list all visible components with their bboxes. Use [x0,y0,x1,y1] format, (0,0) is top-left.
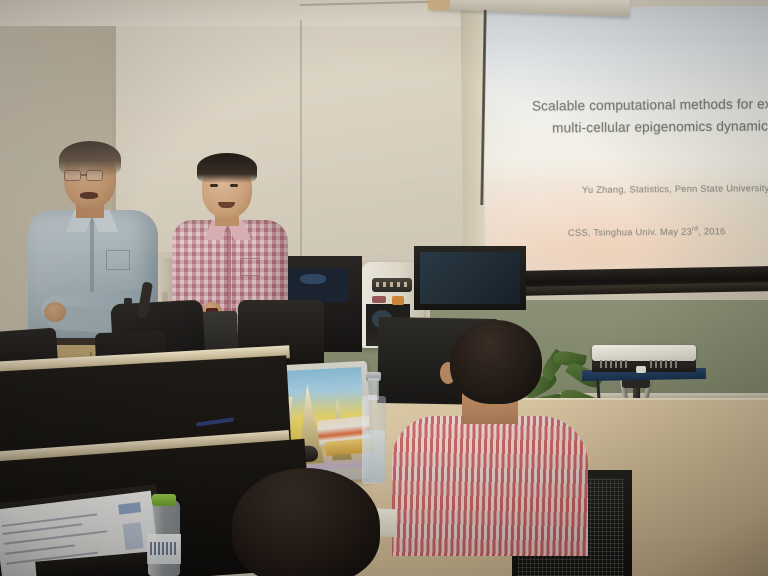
water-bottle-green-cap[interactable] [152,494,176,506]
presenter-left-shirt-pocket [106,250,130,270]
slide-venue: CSS, Tsinghua Univ. May 23rd, 2016 [568,225,726,238]
presenter-left-glasses-bridge [81,174,87,176]
slide-title-line-1: Scalable computational methods for explo… [532,96,768,114]
attendee-head [450,320,542,404]
presenter-left-glasses-lens-right [86,170,103,181]
seated-attendee-right [392,320,588,576]
slide-venue-prefix: CSS, Tsinghua Univ. May 23 [568,227,692,238]
presenter-right-eye-right [230,184,238,187]
presenter-left-hand [44,302,66,322]
water-bottle-label-text [150,542,178,555]
slide-content: Scalable computational methods for explo… [470,4,768,284]
projector-vent [650,360,680,368]
seated-attendee-center [218,468,398,576]
photo-scene: Scalable computational methods for explo… [0,0,768,576]
laptop-text-line [5,544,75,555]
slide-title-line-2: multi-cellular epigenomics dynamics [552,110,768,139]
laptop-ui-block [118,502,141,515]
projection-screen-housing-cap [428,0,450,10]
projector-vent [600,360,630,368]
presenter-left-mouth [80,192,98,199]
laptop-text-line [2,513,98,527]
presenter-right-hair [197,153,257,183]
laptop-ui-block [123,522,144,550]
presenter-left-glasses-lens-left [64,170,81,181]
projector-lens [636,366,646,373]
slide-title: Scalable computational methods for explo… [532,88,768,139]
attendee-center-head [232,468,380,576]
presenter-right-shirt-pocket [240,258,260,276]
presenter-right-eye-left [210,184,218,187]
far-monitor-screen [420,252,520,304]
projector-body [592,345,696,361]
water-cooler-buttons[interactable] [376,282,408,287]
water-cooler-badge [392,296,404,305]
slide-author: Yu Zhang, Statistics, Penn State Univers… [582,183,768,195]
equipment-rack-screen-glow [300,274,326,284]
slide-venue-suffix: , 2016 [698,226,725,236]
attendee-striped-shirt [392,416,588,556]
water-cooler-logo [372,296,386,303]
